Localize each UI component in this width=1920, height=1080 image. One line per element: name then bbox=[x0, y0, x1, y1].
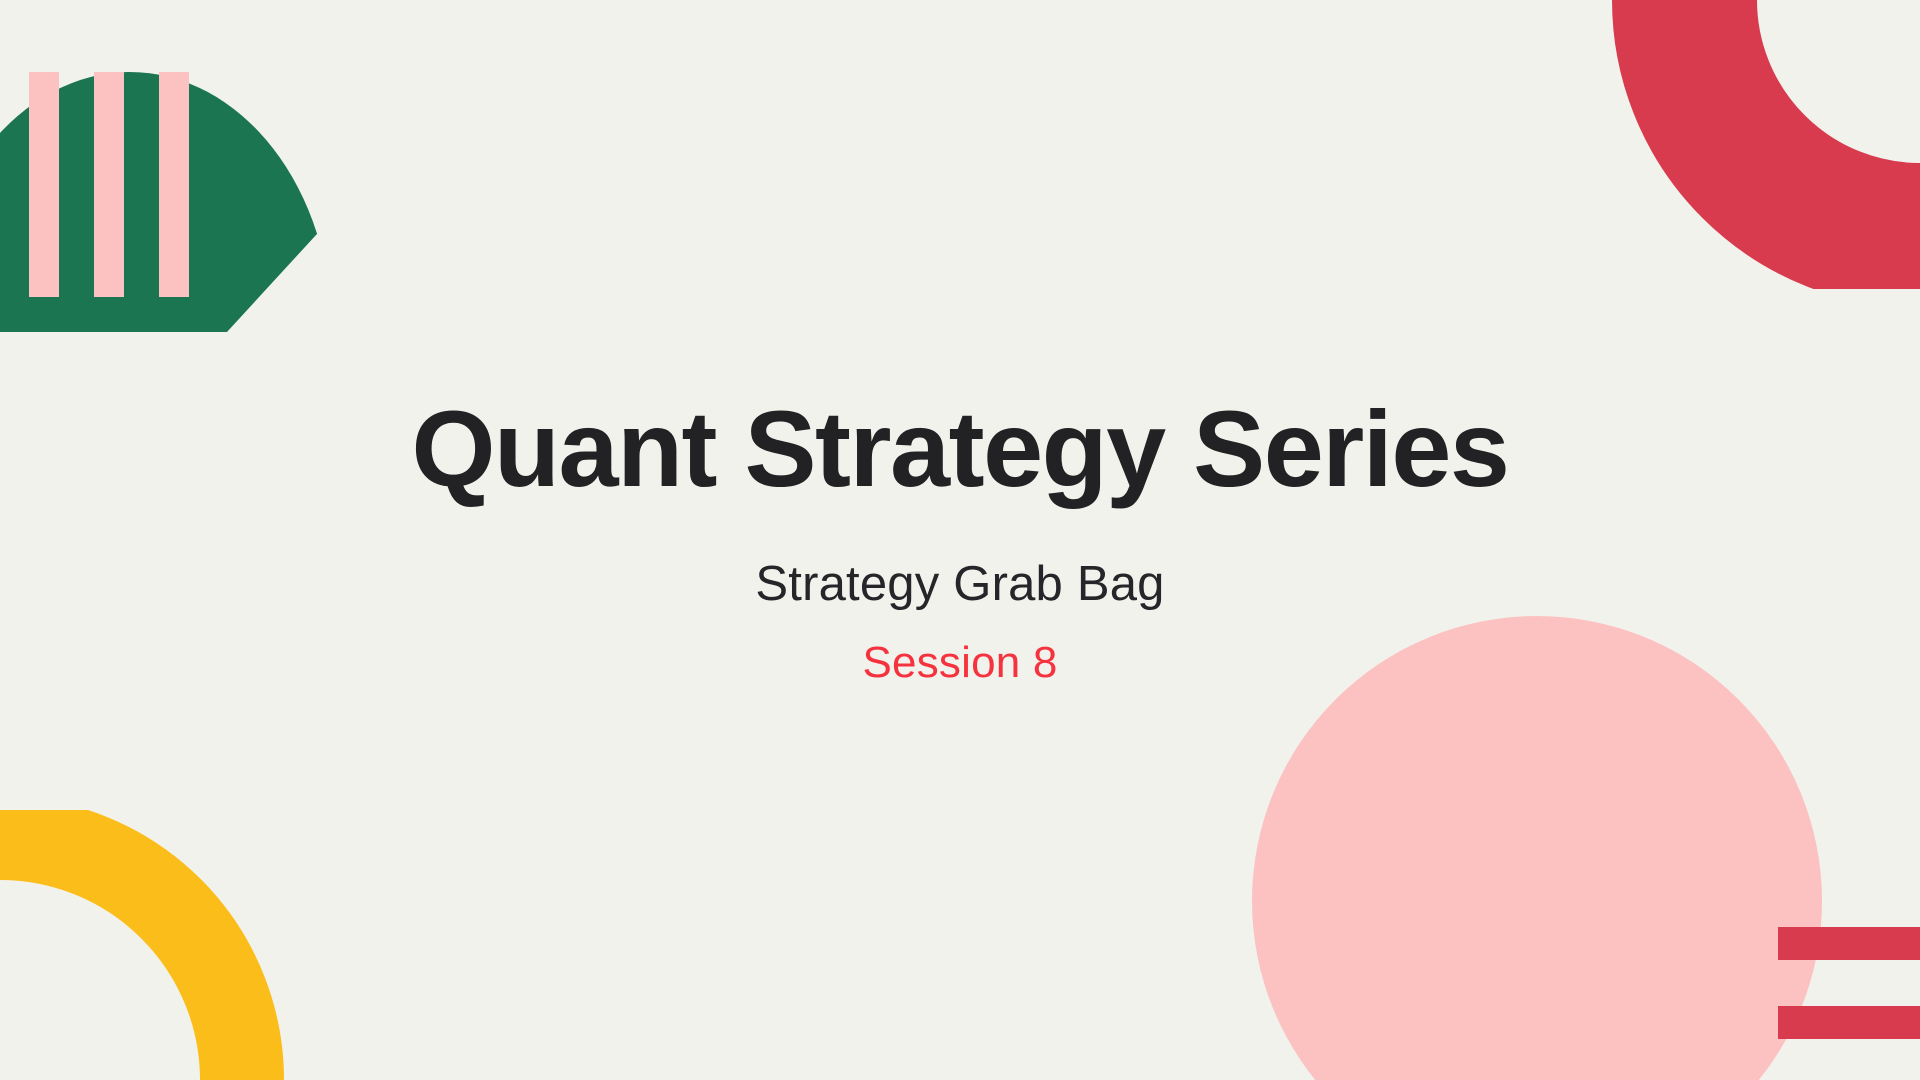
slide-content: Quant Strategy Series Strategy Grab Bag … bbox=[0, 0, 1920, 1080]
slide-subtitle: Strategy Grab Bag bbox=[755, 558, 1164, 612]
page-title: Quant Strategy Series bbox=[412, 392, 1509, 505]
session-label: Session 8 bbox=[862, 639, 1057, 687]
title-slide: Quant Strategy Series Strategy Grab Bag … bbox=[0, 0, 1920, 1080]
